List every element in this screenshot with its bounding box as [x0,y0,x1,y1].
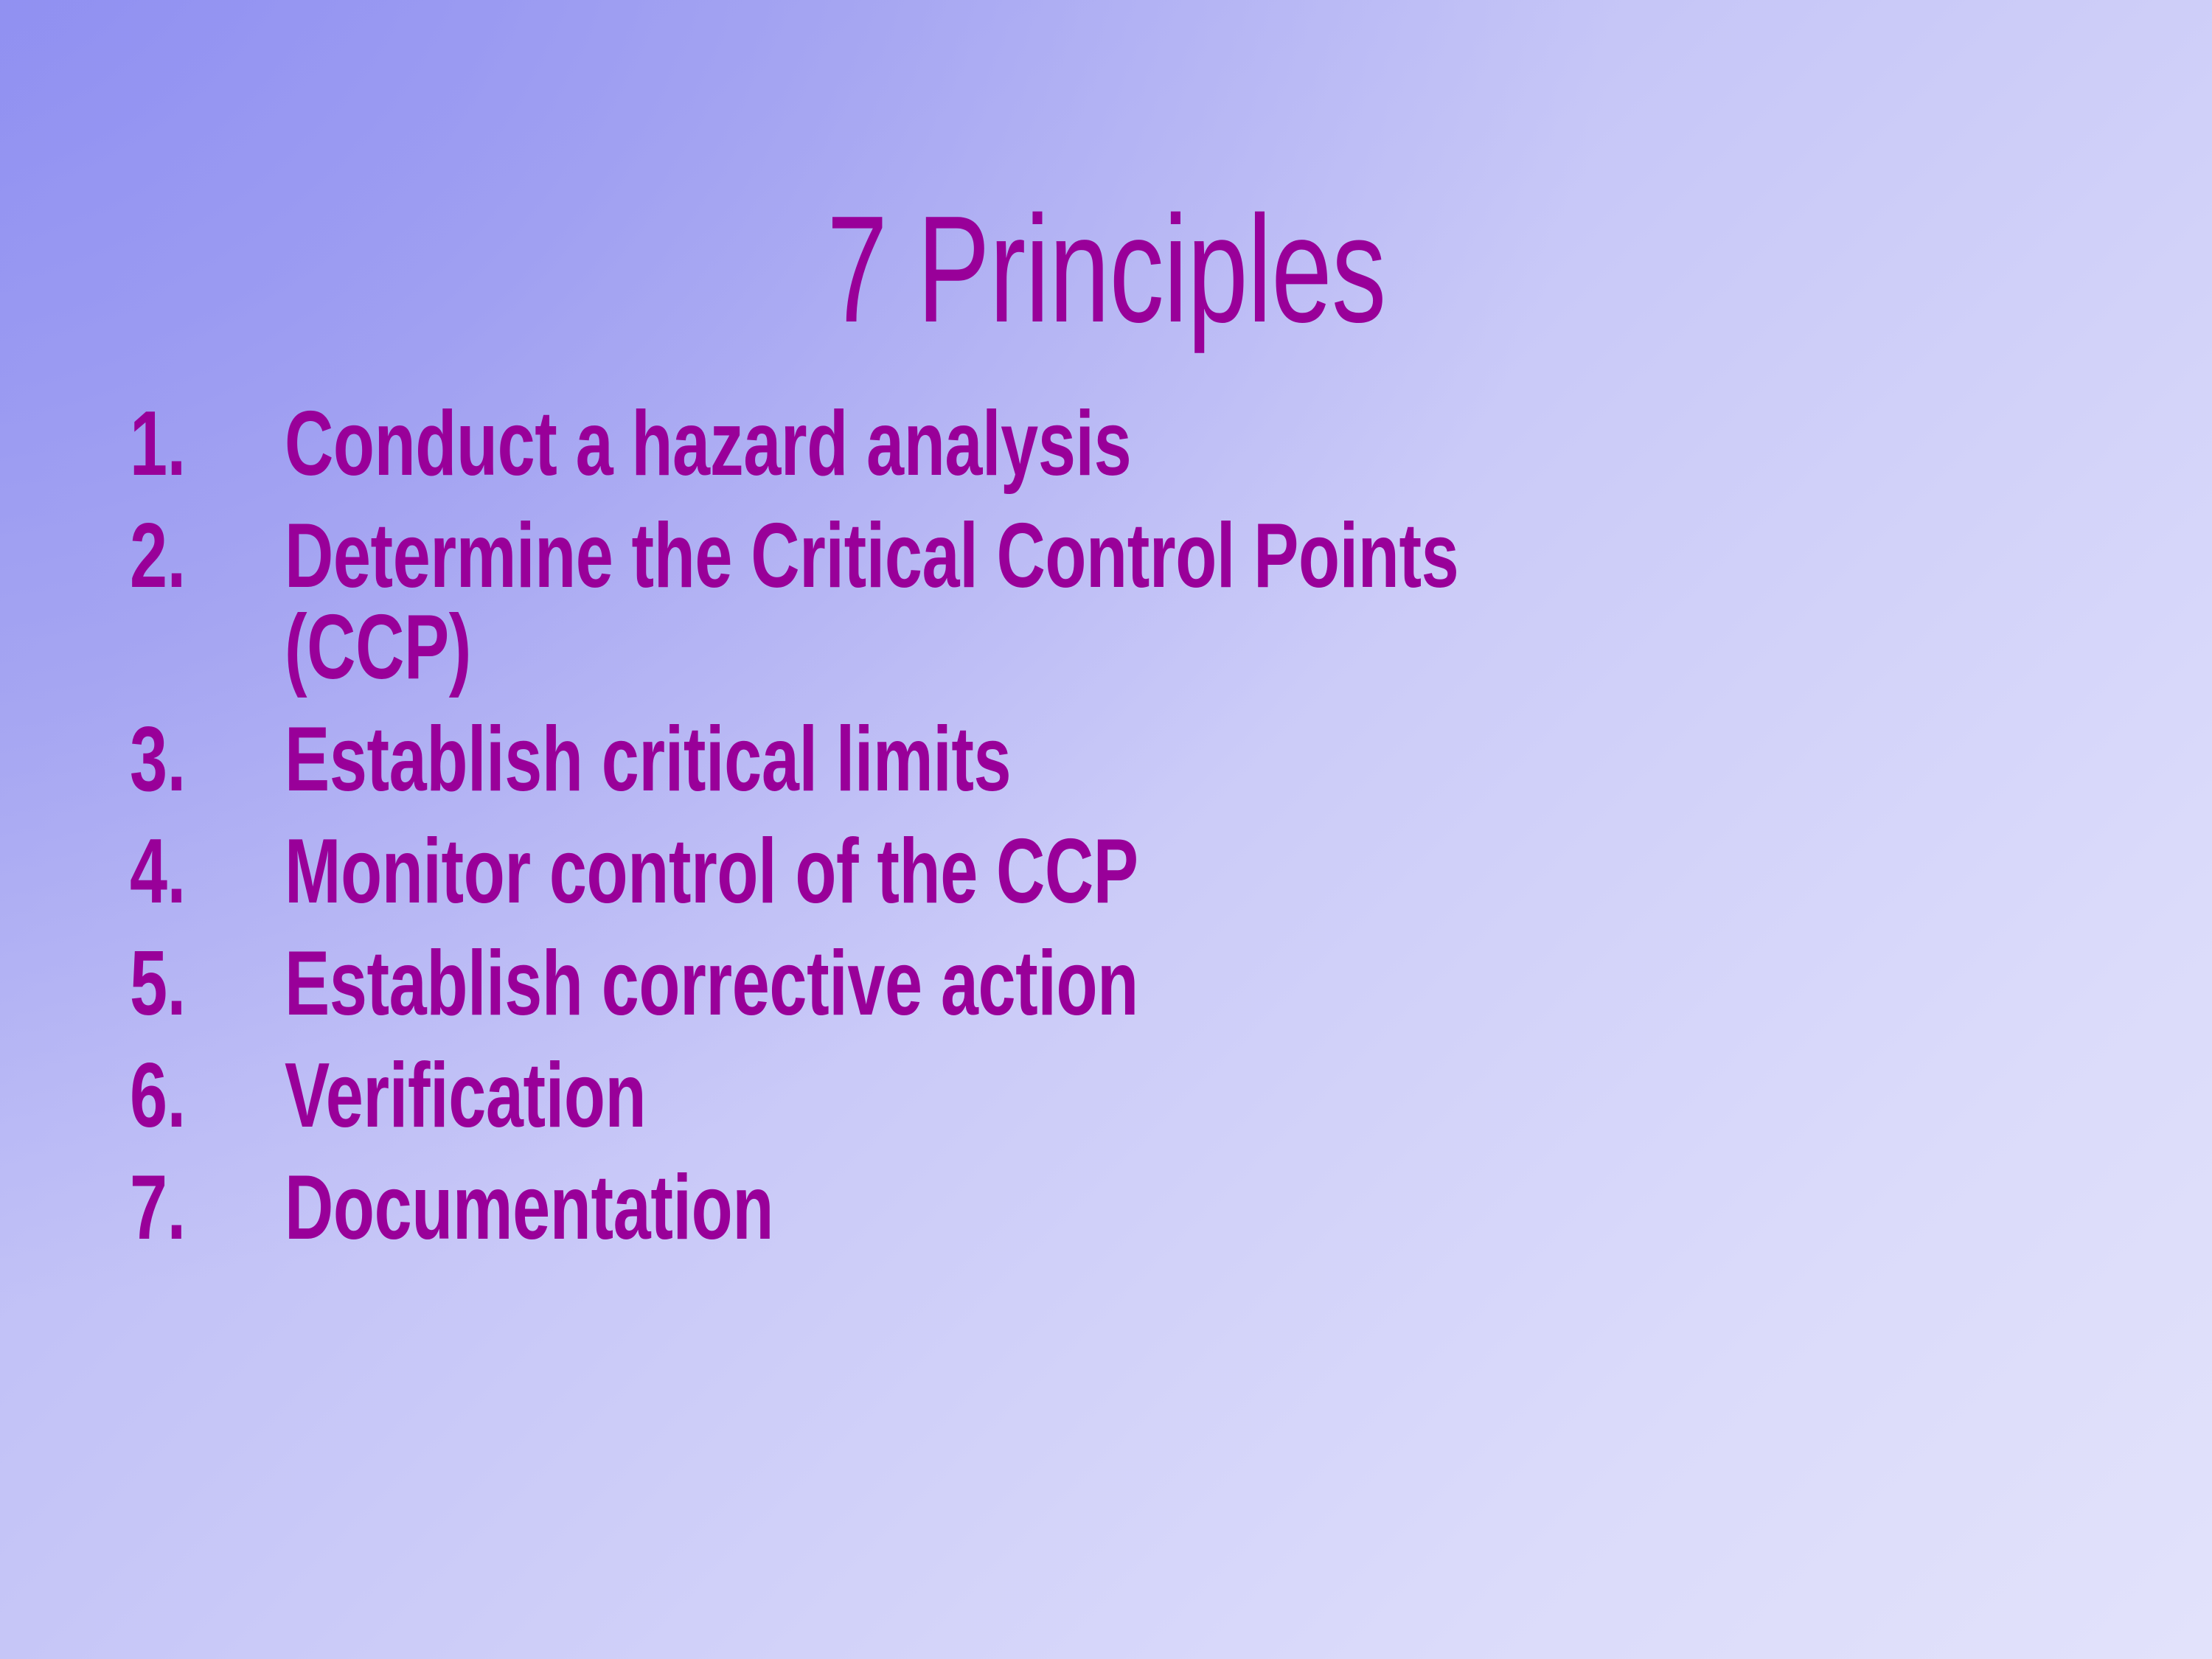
presentation-slide: 7 Principles 1. Conduct a hazard analysi… [0,0,2212,1659]
page-title: 7 Principles [827,189,1385,349]
list-item-label: Establish critical limits [285,714,2177,805]
list-item-label: Conduct a hazard analysis [285,398,2177,490]
list-item: 3. Establish critical limits [130,714,2180,805]
list-item-number: 5. [130,938,223,1029]
list-item-number: 6. [130,1050,223,1141]
list-item: 4. Monitor control of the CCP [130,826,2180,917]
list-item-label: Verification [285,1050,2177,1141]
list-item: 6. Verification [130,1050,2180,1141]
list-item-number: 1. [130,398,223,490]
list-item-number: 2. [130,510,223,602]
principles-list: 1. Conduct a hazard analysis 2. Determin… [130,398,2180,1274]
list-item-label: Determine the Critical Control Points (C… [285,510,2177,693]
list-item: 2. Determine the Critical Control Points… [130,510,2180,693]
list-item-label: Documentation [285,1162,2177,1253]
list-item-label: Monitor control of the CCP [285,826,2177,917]
list-item-number: 7. [130,1162,223,1253]
list-item-label: Establish corrective action [285,938,2177,1029]
list-item: 7. Documentation [130,1162,2180,1253]
list-item-number: 3. [130,714,223,805]
list-item: 5. Establish corrective action [130,938,2180,1029]
list-item-number: 4. [130,826,223,917]
list-item: 1. Conduct a hazard analysis [130,398,2180,490]
